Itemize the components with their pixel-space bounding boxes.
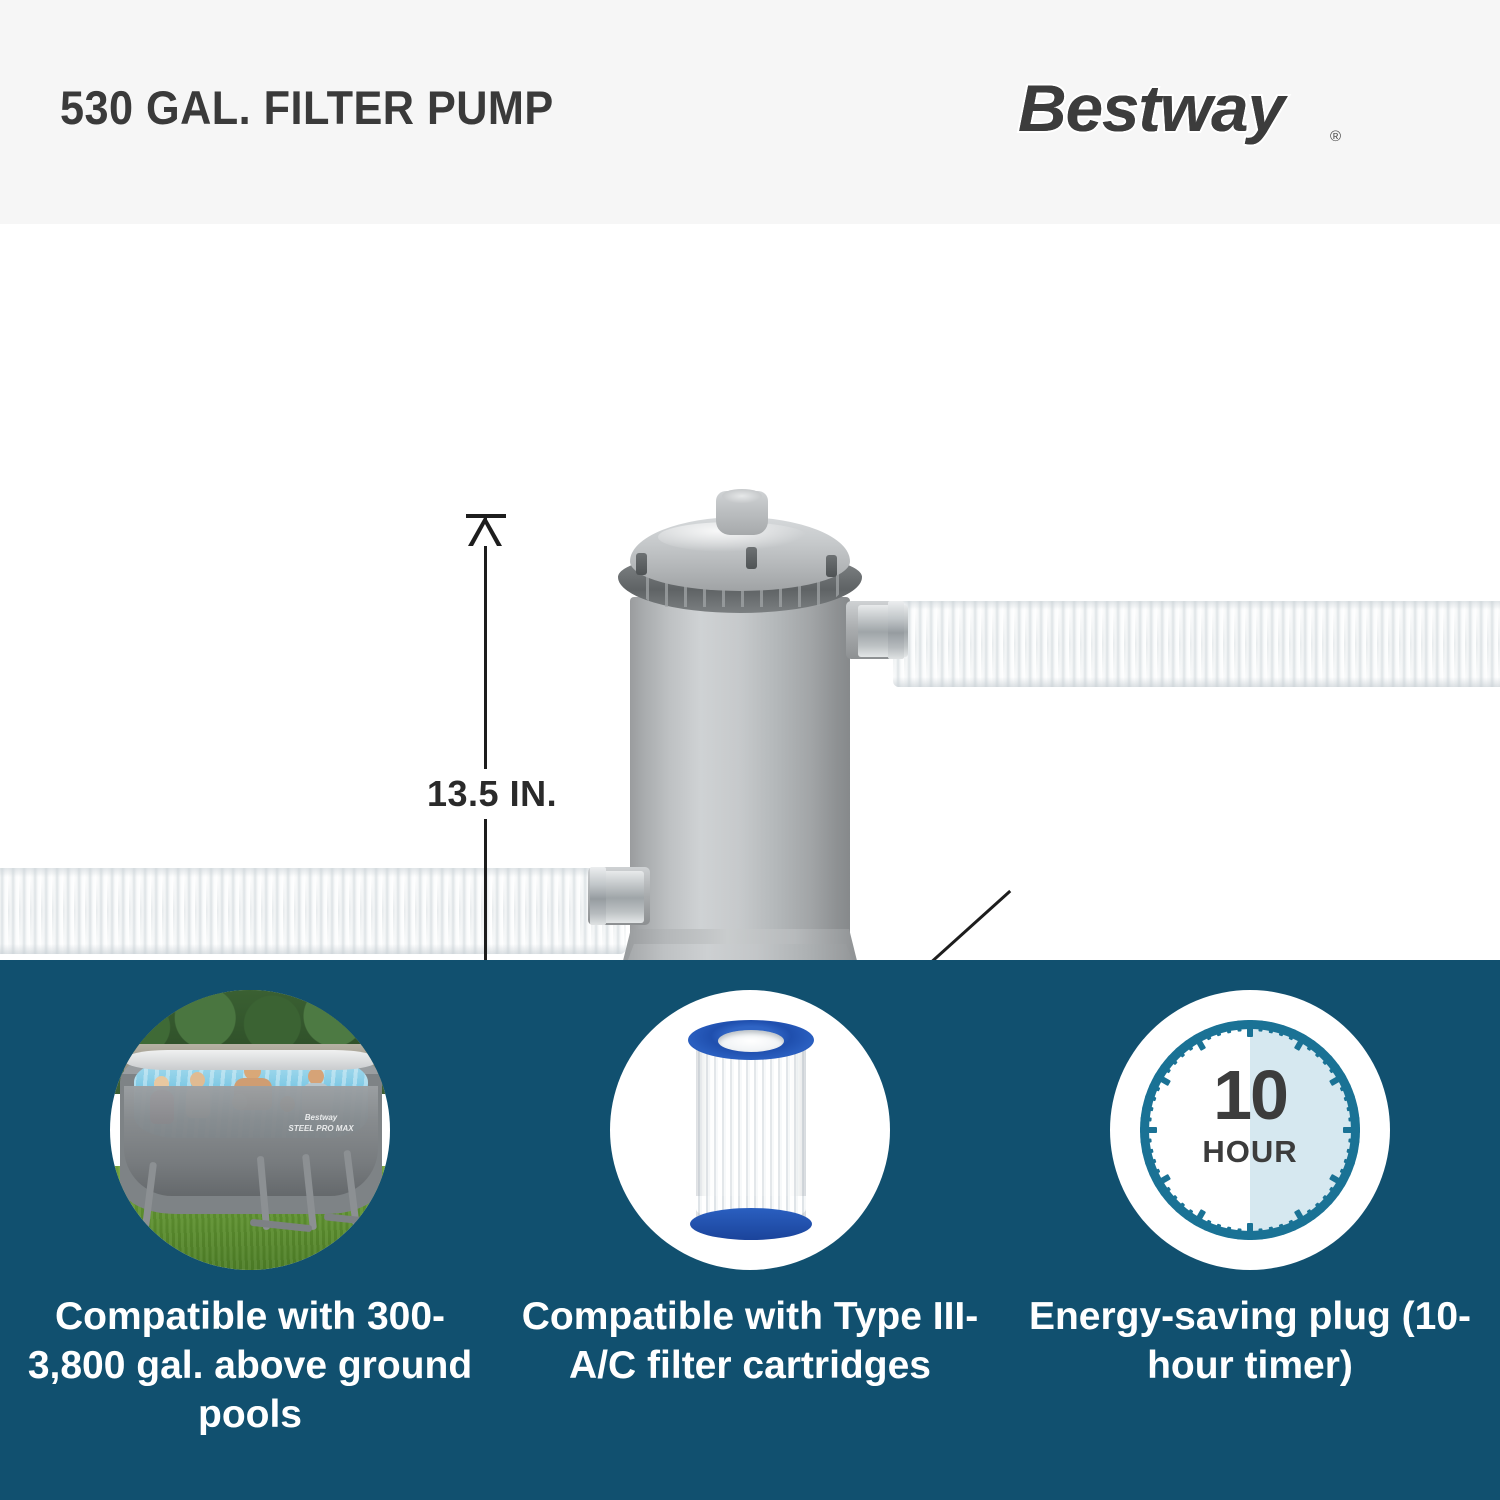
product-infographic: 530 GAL. FILTER PUMP Bestway Bestway ® [0,0,1500,1500]
pool-photo-icon: Bestway STEEL PRO MAX [110,990,390,1270]
bestway-logo: Bestway Bestway ® [1018,66,1358,162]
dimension-height-label: 13.5 IN. [419,769,565,819]
page-title: 530 GAL. FILTER PUMP [60,80,554,136]
inlet-coupler-ring [590,867,606,925]
feature-item-cartridge-compatibility: Compatible with Type III-A/C filter cart… [500,960,1000,1500]
cartridge-center-hole [718,1030,784,1052]
feature-caption: Energy-saving plug (10-hour timer) [1020,1292,1480,1390]
lid-latch-tab [636,553,647,575]
hose-top [893,601,1500,687]
lid-knob-top [722,489,762,503]
photo-pool-rim [124,1050,378,1070]
pump-barrel [630,597,850,960]
photo-pool-frame [124,1086,378,1196]
timer-clock-icon: 10 HOUR [1110,990,1390,1270]
hose-bottom [0,868,626,954]
clock-unit: HOUR [1110,1136,1390,1167]
product-illustration: 13.5 IN. 7 IN. 7 IN. [0,224,1500,960]
lid-latch-tab [826,555,837,577]
photo-hedge [110,990,390,1052]
cartridge-end-cap-bottom [690,1208,812,1240]
feature-caption: Compatible with 300-3,800 gal. above gro… [20,1292,480,1439]
feature-item-energy-saving-timer: 10 HOUR Energy-saving plug (10-hour time… [1000,960,1500,1500]
clock-value: 10 [1110,1060,1390,1130]
dimension-height-line [484,516,487,960]
photo-brand-model: STEEL PRO MAX [288,1124,353,1133]
feature-item-pool-compatibility: Bestway STEEL PRO MAX Compatible with 30… [0,960,500,1500]
filter-cartridge-icon [610,990,890,1270]
dimension-arrow-up-icon [468,516,502,546]
photo-brand-name: Bestway [305,1113,337,1122]
brand-wordmark: Bestway [1018,68,1284,148]
feature-caption: Compatible with Type III-A/C filter cart… [520,1292,980,1390]
registered-trademark-icon: ® [1330,128,1341,145]
lid-latch-tab [746,547,757,569]
outlet-coupler-ring [888,601,904,659]
feature-panel: Bestway STEEL PRO MAX Compatible with 30… [0,960,1500,1500]
photo-pool-brand: Bestway STEEL PRO MAX [288,1112,354,1138]
hose-shading [893,601,1500,687]
hose-shading [0,868,626,954]
filter-pump-unit [600,489,910,960]
header-bar: 530 GAL. FILTER PUMP Bestway Bestway ® [0,0,1500,224]
